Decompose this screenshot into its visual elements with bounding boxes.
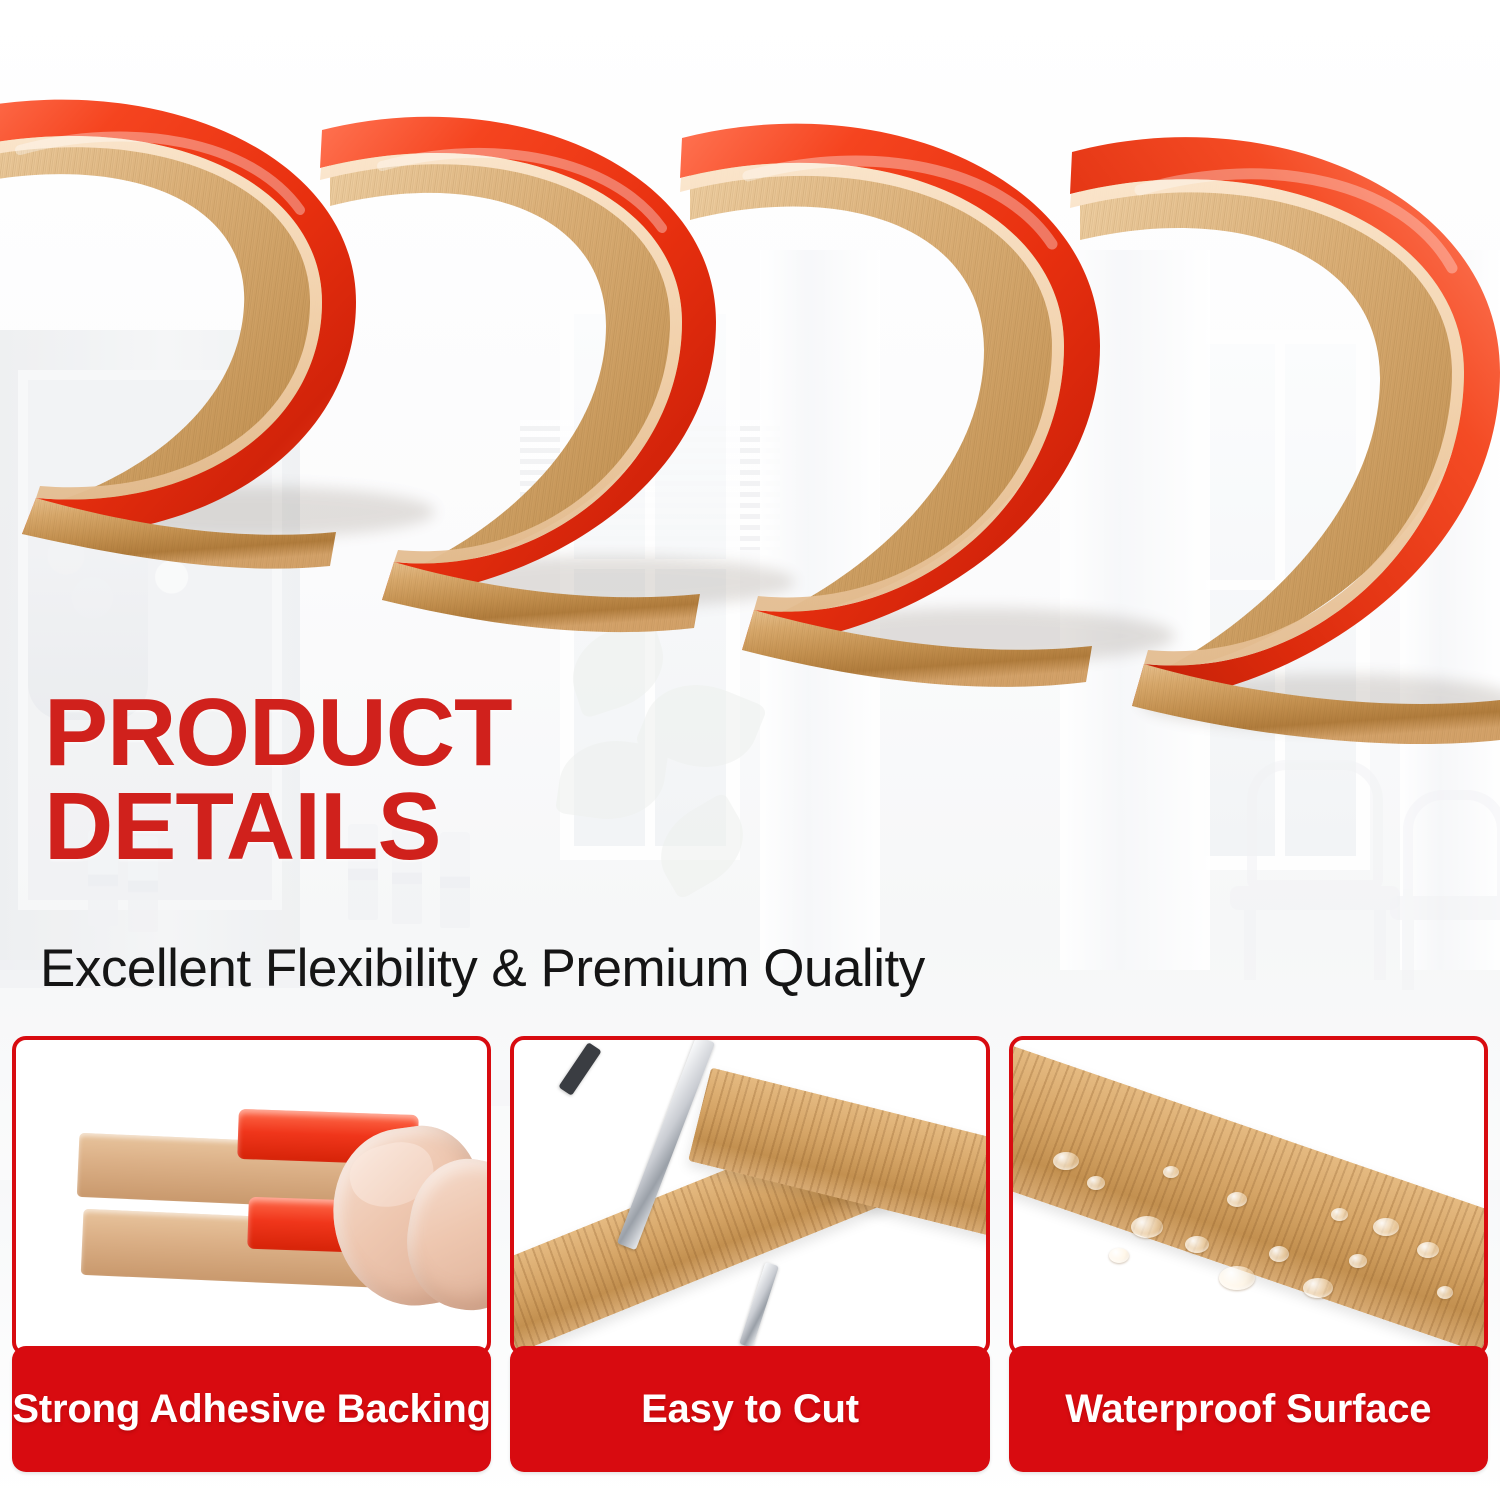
background-chair-seat [1390, 896, 1500, 920]
waterproof-artwork [1013, 1040, 1484, 1352]
feature-card-adhesive[interactable]: Strong Adhesive Backing [12, 1036, 491, 1476]
subheadline: Excellent Flexibility & Premium Quality [40, 938, 925, 999]
wood-strip-wet [1009, 1039, 1488, 1356]
feature-caption-text: Easy to Cut [641, 1387, 859, 1432]
water-drop [1331, 1208, 1348, 1221]
water-drop [1163, 1166, 1179, 1178]
feature-image-waterproof [1009, 1036, 1488, 1356]
feature-caption-text: Strong Adhesive Backing [12, 1387, 490, 1432]
feature-card-waterproof[interactable]: Waterproof Surface [1009, 1036, 1488, 1476]
water-drop [1219, 1266, 1255, 1290]
water-drop [1303, 1278, 1333, 1298]
headline-block: PRODUCT DETAILS [44, 686, 944, 874]
feature-caption-waterproof: Waterproof Surface [1009, 1346, 1488, 1472]
background-chair-leg [1244, 908, 1256, 980]
water-drop [1227, 1192, 1247, 1207]
water-drop [1185, 1236, 1209, 1253]
headline-line-1: PRODUCT [44, 686, 944, 780]
background-chair-leg [1374, 908, 1386, 980]
water-drop [1269, 1246, 1289, 1262]
feature-panel-row: Strong Adhesive Backing Easy to Cut [12, 1036, 1488, 1476]
water-drop [1109, 1248, 1129, 1263]
adhesive-artwork [16, 1040, 487, 1352]
product-detail-image: PRODUCT DETAILS Excellent Flexibility & … [0, 0, 1500, 1500]
water-drop [1131, 1216, 1163, 1238]
coil-loop-3 [680, 124, 1100, 687]
water-drop [1087, 1176, 1105, 1190]
water-drop [1417, 1242, 1439, 1258]
water-drop [1373, 1218, 1399, 1236]
scissor-blade-lower [739, 1262, 779, 1348]
coil-loop-2 [320, 117, 716, 632]
scissor-handle [559, 1042, 602, 1096]
background-chair-leg [1402, 918, 1414, 990]
water-drop [1349, 1254, 1367, 1268]
feature-card-cut[interactable]: Easy to Cut [510, 1036, 989, 1476]
feature-caption-adhesive: Strong Adhesive Backing [12, 1346, 491, 1472]
headline-line-2: DETAILS [44, 780, 944, 874]
feature-image-cut [510, 1036, 989, 1356]
water-drop [1053, 1152, 1079, 1170]
feature-caption-text: Waterproof Surface [1065, 1387, 1431, 1432]
feature-caption-cut: Easy to Cut [510, 1346, 989, 1472]
background-chair-seat [1230, 886, 1400, 910]
cut-artwork [514, 1040, 985, 1352]
background-chair [1390, 790, 1500, 990]
feature-image-adhesive [12, 1036, 491, 1356]
water-drop [1437, 1286, 1453, 1299]
